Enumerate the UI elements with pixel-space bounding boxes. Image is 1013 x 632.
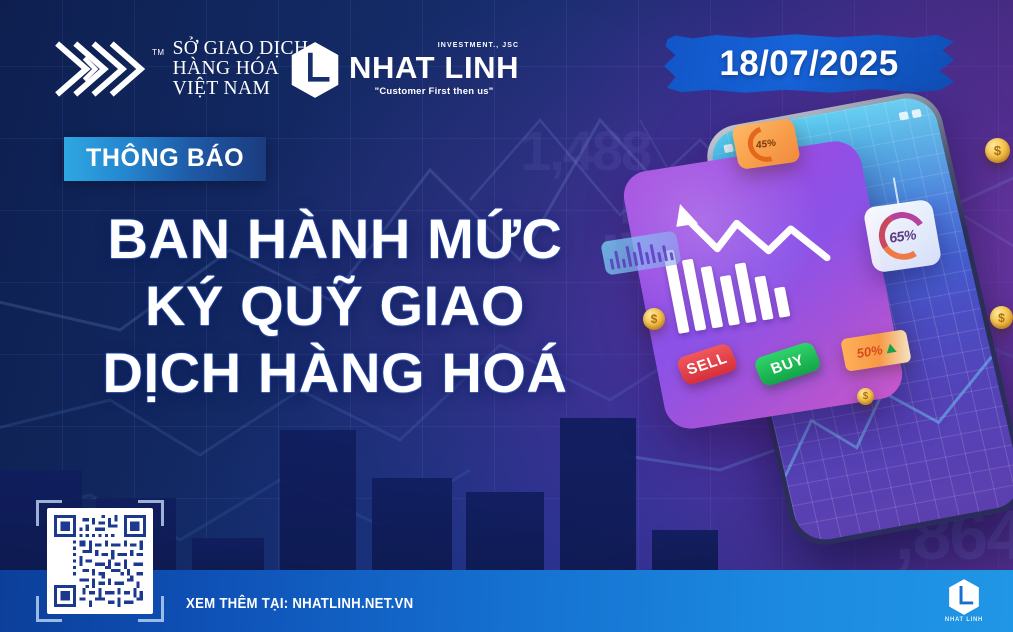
gold-coin-icon: $ <box>990 306 1013 329</box>
nhatlinh-hexagon-mark-icon <box>946 578 982 616</box>
mxv-chevron-mark-icon <box>48 38 148 100</box>
date-badge: 18/07/2025 <box>664 33 954 94</box>
nhatlinh-slogan: "Customer First then us" <box>349 86 519 97</box>
announcement-banner: 1,488 ,544 ,45 ,864 ,86 TM SỞ GIAO DỊCH … <box>0 0 1013 632</box>
mxv-logo: TM SỞ GIAO DỊCH HÀNG HÓA VIỆT NAM <box>48 38 308 100</box>
nhatlinh-logo: INVESTMENT., JSC NHAT LINH "Customer Fir… <box>288 40 519 100</box>
mxv-trademark: TM <box>152 48 165 57</box>
footer-nhatlinh-logo: NHAT LINH <box>937 574 991 626</box>
badge-45-percent: 45% <box>731 118 801 170</box>
footer-logo-name: NHAT LINH <box>945 617 983 623</box>
title-line-1: BAN HÀNH MỨC <box>0 205 670 272</box>
title-line-3: DỊCH HÀNG HOÁ <box>0 339 670 406</box>
badge-65-percent: 65% <box>863 199 943 274</box>
up-triangle-icon <box>885 343 897 353</box>
qr-code-icon[interactable] <box>47 508 153 614</box>
gold-coin-icon: $ <box>985 138 1010 163</box>
nhatlinh-name: NHAT LINH <box>349 52 519 85</box>
notice-badge: THÔNG BÁO <box>64 137 266 181</box>
gold-coin-icon: $ <box>857 388 874 405</box>
badge-50-label: 50% <box>855 342 884 361</box>
title-line-2: KÝ QUỸ GIAO <box>0 272 670 339</box>
gold-coin-icon: $ <box>643 308 665 330</box>
page-title: BAN HÀNH MỨC KÝ QUỸ GIAO DỊCH HÀNG HOÁ <box>0 205 670 407</box>
qr-code-block[interactable] <box>36 500 164 622</box>
nhatlinh-superscript: INVESTMENT., JSC <box>438 42 519 49</box>
footer-call-to-action: XEM THÊM TẠI: NHATLINH.NET.VN <box>186 595 413 612</box>
nhatlinh-hexagon-mark-icon <box>288 40 342 100</box>
trading-illustration: SELL BUY 45% 65% 50% <box>625 96 1013 536</box>
nhatlinh-wordmark: INVESTMENT., JSC NHAT LINH "Customer Fir… <box>349 43 519 98</box>
